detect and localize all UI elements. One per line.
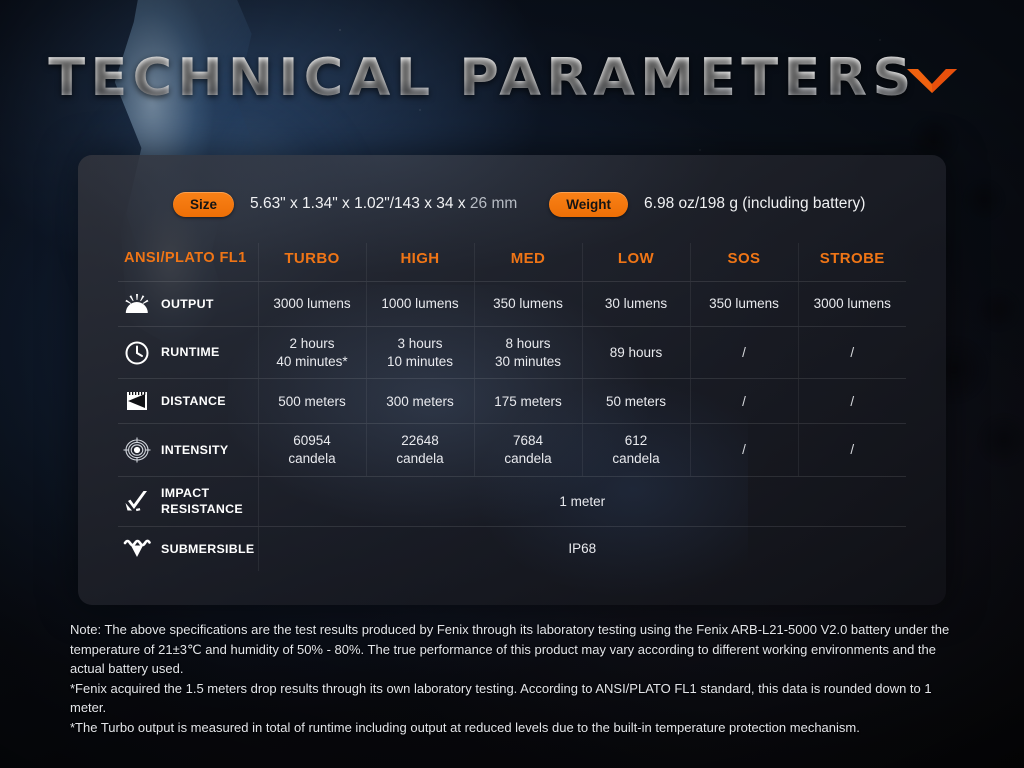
row-label-text: INTENSITY [161, 442, 228, 458]
row-label-text: RUNTIME [161, 344, 220, 360]
table-row: IMPACT RESISTANCE 1 meter [118, 477, 906, 527]
footnote-turbo: *The Turbo output is measured in total o… [70, 718, 962, 738]
cell-distance-low: 50 meters [582, 379, 690, 424]
row-label-intensity: INTENSITY [118, 424, 258, 477]
row-label-output: OUTPUT [118, 281, 258, 326]
size-weight-bar: Size 5.63" x 1.34" x 1.02"/143 x 34 x 26… [78, 183, 946, 225]
column-header-high: HIGH [366, 243, 474, 281]
column-header-strobe: STROBE [798, 243, 906, 281]
cell-intensity-strobe: / [798, 424, 906, 477]
row-label-runtime: RUNTIME [118, 326, 258, 379]
table-row: INTENSITY 60954 candela 22648 candela 76… [118, 424, 906, 477]
cell-output-turbo: 3000 lumens [258, 281, 366, 326]
cell-output-med: 350 lumens [474, 281, 582, 326]
specs-card: Size 5.63" x 1.34" x 1.02"/143 x 34 x 26… [78, 155, 946, 605]
size-value-imperial: 5.63" x 1.34" x 1.02"/143 x 34 x [250, 195, 470, 212]
row-label-text: SUBMERSIBLE [161, 541, 254, 557]
clock-icon [122, 339, 152, 367]
column-header-standard: ANSI/PLATO FL1 [118, 243, 258, 281]
cell-runtime-strobe: / [798, 326, 906, 379]
cell-intensity-sos: / [690, 424, 798, 477]
table-row: RUNTIME 2 hours 40 minutes* 3 hours 10 m… [118, 326, 906, 379]
cell-distance-high: 300 meters [366, 379, 474, 424]
footnotes: Note: The above specifications are the t… [70, 620, 962, 737]
table-row: OUTPUT 3000 lumens 1000 lumens 350 lumen… [118, 281, 906, 326]
cell-output-high: 1000 lumens [366, 281, 474, 326]
cell-distance-strobe: / [798, 379, 906, 424]
page-title: TECHNICAL PARAMETERS [49, 48, 917, 108]
impact-check-icon [122, 487, 152, 515]
table-row: SUBMERSIBLE IP68 [118, 526, 906, 571]
weight-badge: Weight [549, 192, 628, 217]
row-label-text: OUTPUT [161, 296, 214, 312]
cell-output-strobe: 3000 lumens [798, 281, 906, 326]
cell-impact-resistance-value: 1 meter [258, 477, 906, 527]
table-row: DISTANCE 500 meters 300 meters 175 meter… [118, 379, 906, 424]
footnote-drop: *Fenix acquired the 1.5 meters drop resu… [70, 679, 962, 718]
cell-distance-med: 175 meters [474, 379, 582, 424]
row-label-text: DISTANCE [161, 393, 226, 409]
cell-distance-sos: / [690, 379, 798, 424]
cell-intensity-low: 612 candela [582, 424, 690, 477]
size-value: 5.63" x 1.34" x 1.02"/143 x 34 x 26 mm [250, 195, 517, 213]
cell-output-low: 30 lumens [582, 281, 690, 326]
cell-runtime-high: 3 hours 10 minutes [366, 326, 474, 379]
cell-intensity-med: 7684 candela [474, 424, 582, 477]
cell-output-sos: 350 lumens [690, 281, 798, 326]
target-icon [122, 436, 152, 464]
water-drop-icon [122, 535, 152, 563]
table-header-row: ANSI/PLATO FL1 TURBO HIGH MED LOW SOS ST… [118, 243, 906, 281]
cell-distance-turbo: 500 meters [258, 379, 366, 424]
row-label-text: IMPACT RESISTANCE [161, 485, 243, 518]
cell-intensity-turbo: 60954 candela [258, 424, 366, 477]
row-label-impact-resistance: IMPACT RESISTANCE [118, 477, 258, 527]
footnote-main: Note: The above specifications are the t… [70, 620, 962, 679]
cell-submersible-value: IP68 [258, 526, 906, 571]
row-label-submersible: SUBMERSIBLE [118, 526, 258, 571]
page-header: TECHNICAL PARAMETERS [0, 48, 1024, 108]
cell-runtime-turbo: 2 hours 40 minutes* [258, 326, 366, 379]
column-header-med: MED [474, 243, 582, 281]
cell-intensity-high: 22648 candela [366, 424, 474, 477]
column-header-low: LOW [582, 243, 690, 281]
column-header-sos: SOS [690, 243, 798, 281]
size-value-metric: 26 mm [470, 195, 517, 212]
specs-table: ANSI/PLATO FL1 TURBO HIGH MED LOW SOS ST… [118, 243, 906, 571]
sunburst-icon [122, 290, 152, 318]
cell-runtime-low: 89 hours [582, 326, 690, 379]
cell-runtime-sos: / [690, 326, 798, 379]
column-header-turbo: TURBO [258, 243, 366, 281]
size-badge: Size [173, 192, 234, 217]
weight-value: 6.98 oz/198 g (including battery) [644, 195, 865, 213]
row-label-distance: DISTANCE [118, 379, 258, 424]
cell-runtime-med: 8 hours 30 minutes [474, 326, 582, 379]
beam-distance-icon [122, 387, 152, 415]
